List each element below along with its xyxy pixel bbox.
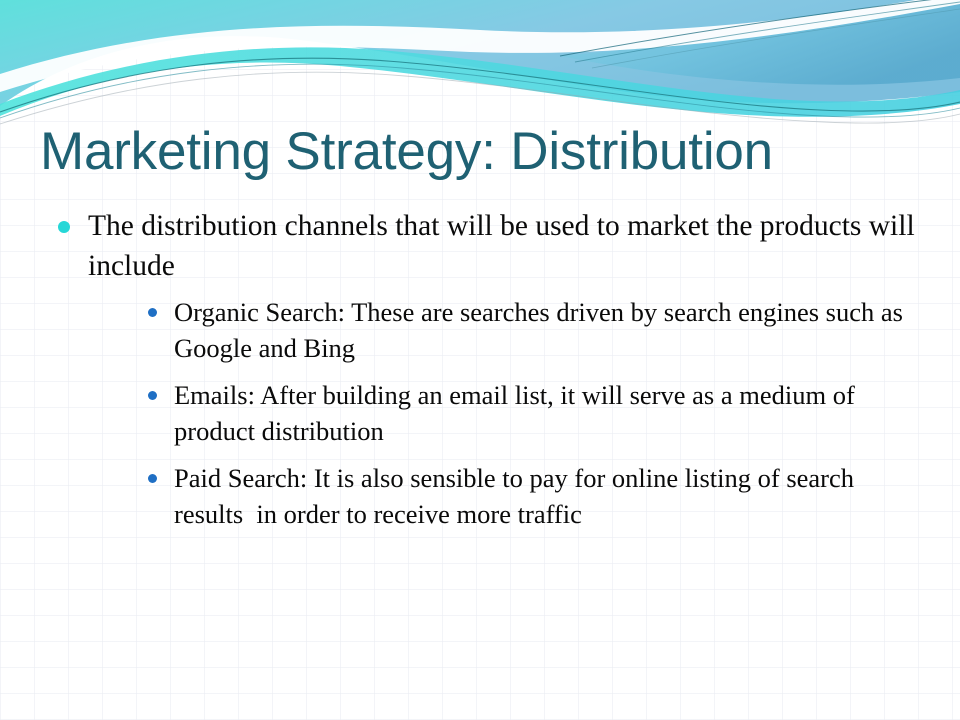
slide-title: Marketing Strategy: Distribution: [40, 122, 920, 182]
bullet-text: Paid Search: It is also sensible to pay …: [174, 460, 924, 532]
presentation-slide: Marketing Strategy: Distribution The dis…: [0, 0, 960, 720]
bullet-item-paid-search: Paid Search: It is also sensible to pay …: [130, 460, 924, 532]
slide-body: The distribution channels that will be u…: [44, 206, 924, 536]
bullet-text: The distribution channels that will be u…: [88, 206, 924, 286]
bullet-list-level-2: Organic Search: These are searches drive…: [88, 294, 924, 532]
header-wave-decoration: [0, 0, 960, 130]
title-container: Marketing Strategy: Distribution: [40, 122, 920, 182]
bullet-item-organic-search: Organic Search: These are searches drive…: [130, 294, 924, 366]
bullet-list-level-1: The distribution channels that will be u…: [44, 206, 924, 532]
header-wave-svg: [0, 0, 960, 130]
bullet-text: Organic Search: These are searches drive…: [174, 294, 924, 366]
bullet-text: Emails: After building an email list, it…: [174, 377, 924, 449]
bullet-item-emails: Emails: After building an email list, it…: [130, 377, 924, 449]
bullet-item-level-1: The distribution channels that will be u…: [44, 206, 924, 532]
round-bullet-blue-icon: [148, 308, 157, 317]
round-bullet-cyan-icon: [58, 221, 70, 233]
round-bullet-blue-icon: [148, 391, 157, 400]
round-bullet-blue-icon: [148, 474, 157, 483]
